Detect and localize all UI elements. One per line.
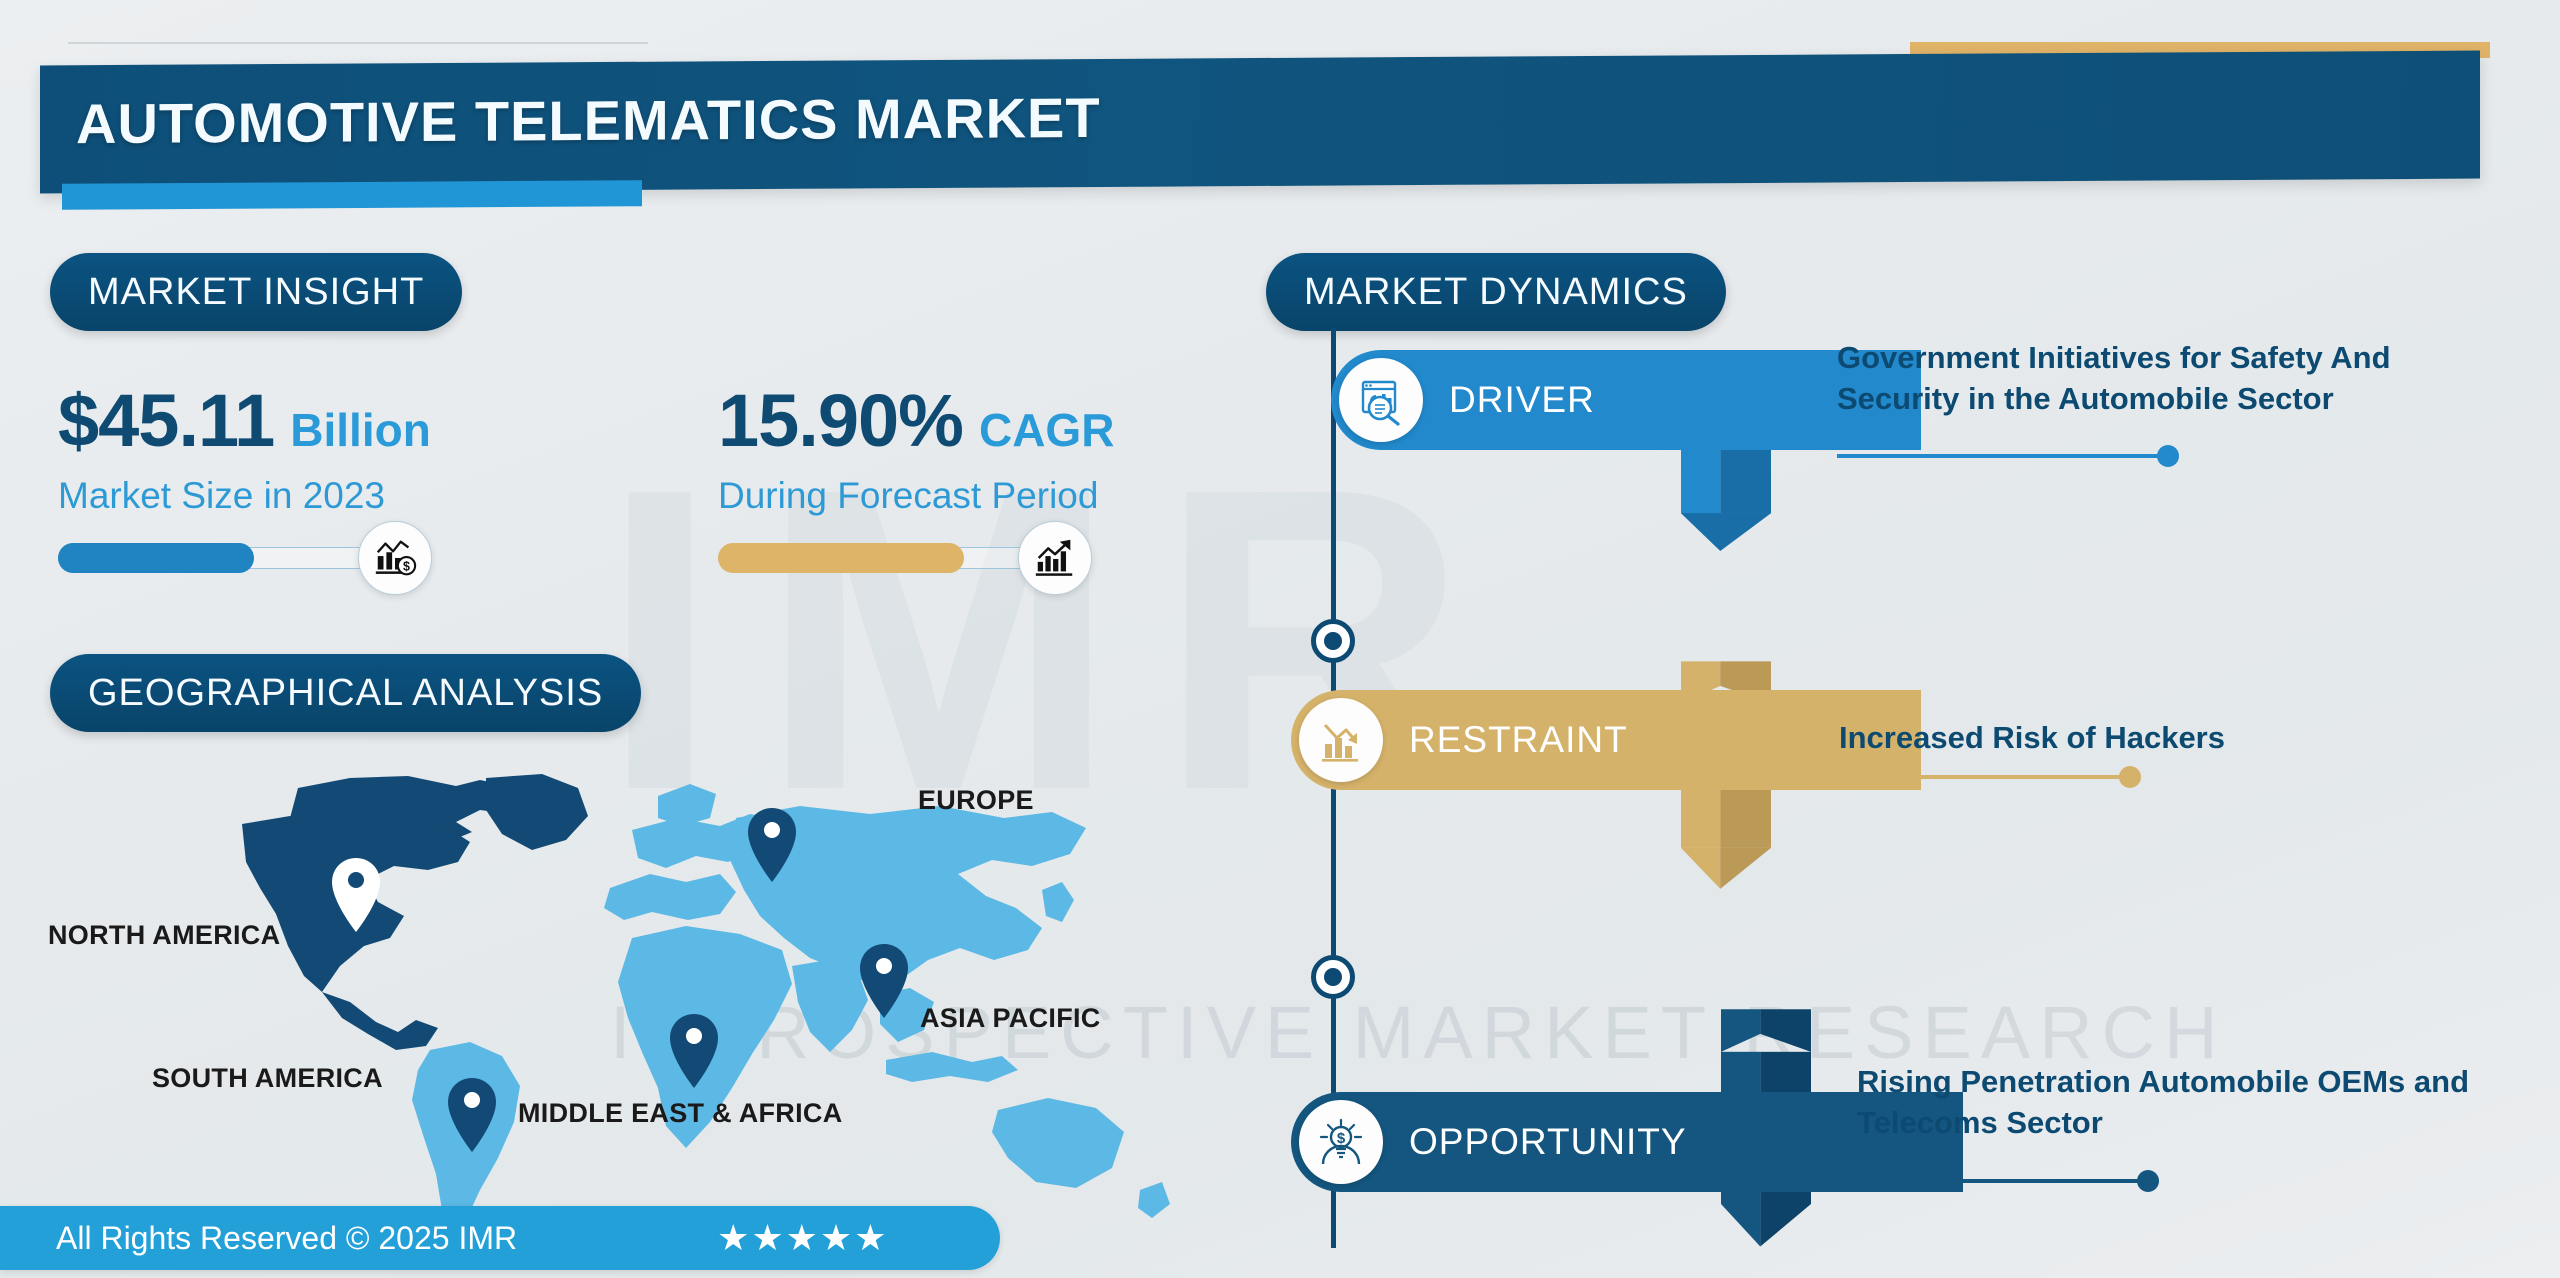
restraint-ribbon: RESTRAINT: [1291, 690, 1881, 790]
driver-underline-dot: [2157, 445, 2179, 467]
section-label-market-dynamics: MARKET DYNAMICS: [1266, 253, 1726, 331]
map-region-scandinavia: [658, 784, 716, 826]
footer-bar: All Rights Reserved © 2025 IMR ★★★★★: [0, 1206, 1000, 1270]
map-region-new-zealand: [1138, 1182, 1170, 1218]
restraint-description: Increased Risk of Hackers: [1839, 718, 2479, 759]
restraint-label: RESTRAINT: [1409, 719, 1628, 761]
section-label-geographical-analysis: GEOGRAPHICAL ANALYSIS: [50, 654, 641, 732]
progress-fill: [718, 543, 964, 573]
map-label-north-america: NORTH AMERICA: [48, 920, 280, 951]
timeline-node-2: [1311, 955, 1355, 999]
opportunity-underline: [1857, 1179, 2147, 1183]
map-region-australia: [992, 1098, 1124, 1188]
map-label-middle-east-africa: MIDDLE EAST & AFRICA: [518, 1098, 843, 1129]
stat-value: $45.11: [58, 378, 274, 463]
driver-ribbon: DRIVER: [1331, 350, 1921, 450]
rating-stars: ★★★★★: [717, 1217, 888, 1259]
document-chart-search-icon: [1339, 358, 1423, 442]
map-region-japan: [1042, 882, 1074, 922]
declining-bar-chart-icon: [1299, 698, 1383, 782]
opportunity-ribbon: $ OPPORTUNITY: [1291, 1092, 1881, 1192]
stat-value: 15.90%: [718, 378, 963, 463]
map-region-indonesia: [886, 1052, 1018, 1082]
restraint-underline-dot: [2119, 766, 2141, 788]
map-region-india: [792, 960, 868, 1052]
stat-progress: $: [58, 543, 398, 573]
driver-description: Government Initiatives for Safety And Se…: [1837, 338, 2477, 420]
map-label-europe: EUROPE: [918, 785, 1034, 816]
stat-cagr: 15.90%CAGR During Forecast Period: [718, 378, 1114, 573]
stat-progress: [718, 543, 1058, 573]
page-title: AUTOMOTIVE TELEMATICS MARKET: [76, 85, 1101, 156]
svg-text:$: $: [403, 559, 410, 573]
stat-subtitle: During Forecast Period: [718, 475, 1114, 517]
lightbulb-dollar-icon: $: [1299, 1100, 1383, 1184]
map-region-central-america: [322, 992, 438, 1050]
bar-chart-dollar-icon: $: [358, 521, 432, 595]
growth-chart-arrow-icon: [1018, 521, 1092, 595]
map-label-asia-pacific: ASIA PACIFIC: [920, 1003, 1101, 1034]
opportunity-label: OPPORTUNITY: [1409, 1121, 1687, 1163]
section-label-text: MARKET DYNAMICS: [1304, 271, 1688, 314]
stat-market-size: $45.11Billion Market Size in 2023 $: [58, 378, 431, 573]
map-label-south-america: SOUTH AMERICA: [152, 1063, 383, 1094]
section-label-market-insight: MARKET INSIGHT: [50, 253, 462, 331]
svg-text:$: $: [1337, 1130, 1346, 1147]
driver-label: DRIVER: [1449, 379, 1595, 421]
map-region-greenland: [486, 774, 588, 850]
progress-fill: [58, 543, 254, 573]
restraint-underline: [1839, 775, 2129, 779]
stat-unit: Billion: [290, 403, 431, 457]
opportunity-underline-dot: [2137, 1170, 2159, 1192]
map-region-europe-2: [604, 874, 736, 920]
stat-unit: CAGR: [979, 403, 1114, 457]
opportunity-description: Rising Penetration Automobile OEMs and T…: [1857, 1062, 2497, 1144]
header-thin-rule: [68, 42, 648, 44]
driver-underline: [1837, 454, 2167, 458]
header-blue-accent: [62, 180, 642, 210]
copyright-text: All Rights Reserved © 2025 IMR: [56, 1220, 517, 1257]
stat-subtitle: Market Size in 2023: [58, 475, 431, 517]
section-label-text: MARKET INSIGHT: [88, 271, 424, 314]
timeline-node-1: [1311, 619, 1355, 663]
section-label-text: GEOGRAPHICAL ANALYSIS: [88, 672, 603, 715]
infographic-canvas: IMR INTROSPECTIVE MARKET RESEARCH AUTOMO…: [0, 0, 2560, 1278]
